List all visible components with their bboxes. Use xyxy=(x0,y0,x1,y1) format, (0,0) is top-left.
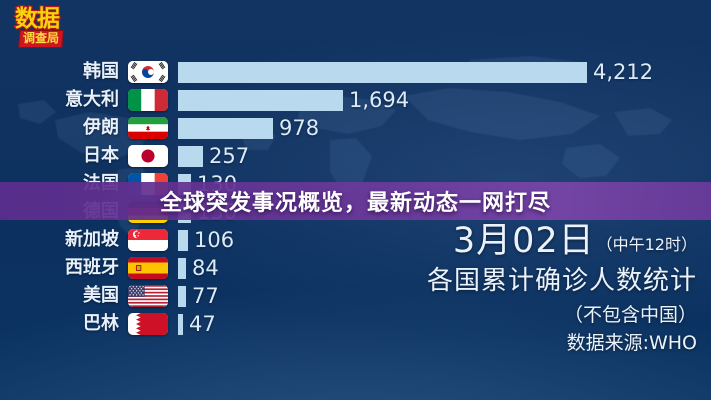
exclusion-note: （不包含中国） xyxy=(564,303,697,327)
bar-value: 106 xyxy=(194,226,234,254)
country-label: 美国 xyxy=(83,282,119,310)
flag-icon-japan xyxy=(128,145,168,167)
flag-icon-iran xyxy=(128,117,168,139)
country-label-box: 日本 xyxy=(0,142,119,170)
bar-value: 257 xyxy=(209,142,249,170)
country-label-box: 韩国 xyxy=(0,58,119,86)
stat-title: 各国累计确诊人数统计 xyxy=(427,266,697,296)
country-label: 西班牙 xyxy=(65,254,119,282)
date-line: 3月02日 （中午12时） xyxy=(453,222,697,260)
bar xyxy=(178,146,203,167)
bar-value: 77 xyxy=(192,282,219,310)
country-label-box: 新加坡 xyxy=(0,226,119,254)
country-label-box: 西班牙 xyxy=(0,254,119,282)
bar-row: 伊朗 978 xyxy=(0,114,711,142)
flag-icon-spain xyxy=(128,257,168,279)
data-source: 数据来源:WHO xyxy=(567,331,697,355)
bar-value: 1,694 xyxy=(349,86,409,114)
country-label: 巴林 xyxy=(83,310,119,338)
country-label: 伊朗 xyxy=(83,114,119,142)
bar xyxy=(178,314,183,335)
flag-icon-italy xyxy=(128,89,168,111)
bar xyxy=(178,118,273,139)
bar-row: 日本257 xyxy=(0,142,711,170)
overlay-banner-text: 全球突发事况概览，最新动态一网打尽 xyxy=(0,182,711,220)
country-label-box: 美国 xyxy=(0,282,119,310)
bar xyxy=(178,286,186,307)
bar xyxy=(178,90,343,111)
bar-value: 978 xyxy=(279,114,319,142)
video-frame: 数据 调查局 韩国 4,212意大利1,694伊朗 978日本257法国130德… xyxy=(0,0,711,400)
bar-value: 47 xyxy=(189,310,216,338)
flag-icon-south-korea xyxy=(128,61,168,83)
country-label: 韩国 xyxy=(83,58,119,86)
bar-value: 4,212 xyxy=(593,58,653,86)
bar-row: 韩国 4,212 xyxy=(0,58,711,86)
country-label: 日本 xyxy=(83,142,119,170)
bar xyxy=(178,230,188,251)
flag-icon-bahrain xyxy=(128,313,168,335)
bar xyxy=(178,258,186,279)
bar-value: 84 xyxy=(192,254,219,282)
country-label-box: 伊朗 xyxy=(0,114,119,142)
country-label-box: 巴林 xyxy=(0,310,119,338)
flag-icon-singapore xyxy=(128,229,168,251)
flag-icon-united-states xyxy=(128,285,168,307)
bar-row: 意大利1,694 xyxy=(0,86,711,114)
country-label-box: 意大利 xyxy=(0,86,119,114)
date-value: 3月02日 xyxy=(453,222,595,260)
country-label: 意大利 xyxy=(65,86,119,114)
bar xyxy=(178,62,587,83)
date-time-note: （中午12时） xyxy=(595,230,697,260)
country-label: 新加坡 xyxy=(65,226,119,254)
